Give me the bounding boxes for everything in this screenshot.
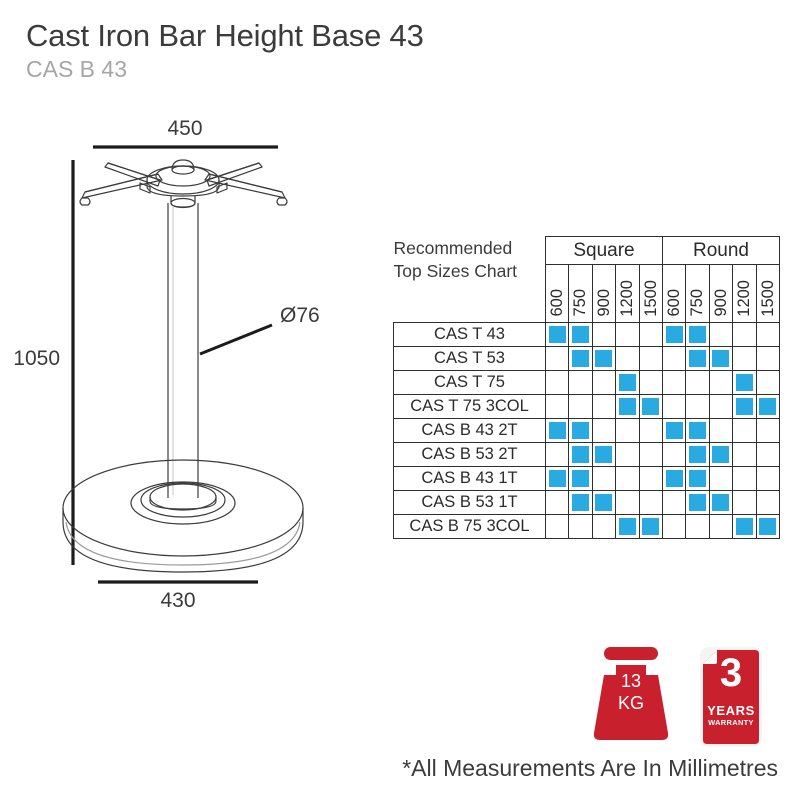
compatibility-mark — [572, 470, 589, 487]
compatibility-mark — [619, 518, 636, 535]
weight-badge: 13 KG — [588, 645, 674, 745]
spider-bracket — [80, 160, 287, 208]
size-label: 1500 — [643, 277, 660, 317]
cell-square-600 — [546, 347, 569, 371]
cell-square-1200 — [616, 395, 639, 419]
badges: 13 KG 3 YEARS WARRANTY — [588, 645, 778, 750]
cell-round-1500 — [756, 443, 779, 467]
cell-round-900 — [709, 443, 732, 467]
top-width-label: 450 — [167, 117, 202, 140]
cell-square-1200 — [616, 323, 639, 347]
cell-square-1500 — [639, 371, 662, 395]
page-subtitle: CAS B 43 — [26, 57, 424, 81]
table-row: CAS T 53 — [394, 347, 780, 371]
table-row: CAS B 75 3COL — [394, 515, 780, 539]
cell-round-1200 — [733, 371, 756, 395]
compatibility-mark — [736, 374, 753, 391]
compatibility-mark — [549, 422, 566, 439]
cell-round-900 — [709, 323, 732, 347]
compatibility-mark — [549, 470, 566, 487]
cell-round-900 — [709, 467, 732, 491]
compatibility-mark — [689, 446, 706, 463]
table-row: CAS B 53 1T — [394, 491, 780, 515]
cell-square-750 — [569, 467, 592, 491]
cell-round-1500 — [756, 371, 779, 395]
row-label: CAS T 75 — [394, 371, 546, 395]
cell-square-900 — [592, 371, 615, 395]
cell-square-1500 — [639, 419, 662, 443]
cell-square-1500 — [639, 467, 662, 491]
cell-round-600 — [662, 443, 685, 467]
cell-square-600 — [546, 395, 569, 419]
cell-round-1500 — [756, 515, 779, 539]
size-header-square-600: 600 — [546, 265, 569, 323]
cell-square-750 — [569, 515, 592, 539]
cell-round-600 — [662, 515, 685, 539]
cell-square-750 — [569, 347, 592, 371]
compatibility-mark — [572, 350, 589, 367]
row-label: CAS B 53 1T — [394, 491, 546, 515]
size-label: 600 — [549, 286, 566, 317]
cell-square-1500 — [639, 491, 662, 515]
cell-round-750 — [686, 467, 709, 491]
cell-square-1500 — [639, 515, 662, 539]
cell-round-750 — [686, 515, 709, 539]
cell-square-600 — [546, 371, 569, 395]
group-header-square: Square — [546, 237, 663, 265]
compatibility-mark — [595, 494, 612, 511]
compatibility-mark — [712, 494, 729, 511]
cell-round-900 — [709, 491, 732, 515]
group-header-row: Recommended Top Sizes Chart Square Round — [394, 237, 780, 265]
diameter-leader-line — [200, 325, 272, 354]
size-header-round-900: 900 — [709, 265, 732, 323]
cell-square-1200 — [616, 515, 639, 539]
cell-round-900 — [709, 515, 732, 539]
size-label: 900 — [596, 286, 613, 317]
cell-square-750 — [569, 323, 592, 347]
chart-title-cell: Recommended Top Sizes Chart — [394, 237, 546, 323]
cell-round-600 — [662, 371, 685, 395]
size-label: 750 — [689, 286, 706, 317]
cell-round-900 — [709, 371, 732, 395]
size-label: 1200 — [736, 277, 753, 317]
size-label: 1500 — [760, 277, 777, 317]
cell-round-1200 — [733, 323, 756, 347]
base-geometry — [63, 160, 303, 572]
cell-round-600 — [662, 323, 685, 347]
cell-round-750 — [686, 491, 709, 515]
size-header-square-1500: 1500 — [639, 265, 662, 323]
table-head: Recommended Top Sizes Chart Square Round… — [394, 237, 780, 323]
cell-round-750 — [686, 347, 709, 371]
cell-square-600 — [546, 419, 569, 443]
compatibility-mark — [736, 518, 753, 535]
cell-square-1500 — [639, 395, 662, 419]
column-diameter-label: Ø76 — [280, 304, 320, 327]
measurements-note: *All Measurements Are In Millimetres — [402, 755, 778, 782]
cell-square-900 — [592, 395, 615, 419]
cell-square-900 — [592, 347, 615, 371]
base-plate — [63, 460, 303, 572]
compatibility-mark — [759, 518, 776, 535]
compatibility-mark — [689, 350, 706, 367]
size-label: 600 — [666, 286, 683, 317]
cell-round-600 — [662, 467, 685, 491]
compatibility-mark — [595, 446, 612, 463]
compatibility-mark — [689, 422, 706, 439]
row-label: CAS T 53 — [394, 347, 546, 371]
cell-round-1200 — [733, 443, 756, 467]
table-row: CAS B 53 2T — [394, 443, 780, 467]
compatibility-mark — [549, 326, 566, 343]
compatibility-mark — [666, 326, 683, 343]
cell-round-750 — [686, 371, 709, 395]
size-header-round-600: 600 — [662, 265, 685, 323]
cell-square-1500 — [639, 323, 662, 347]
recommended-top-sizes-chart: Recommended Top Sizes Chart Square Round… — [393, 236, 779, 539]
cell-round-900 — [709, 395, 732, 419]
row-label: CAS T 75 3COL — [394, 395, 546, 419]
table-row: CAS B 43 2T — [394, 419, 780, 443]
size-header-round-750: 750 — [686, 265, 709, 323]
cell-square-1500 — [639, 347, 662, 371]
product-spec-sheet: Cast Iron Bar Height Base 43 CAS B 43 45… — [0, 0, 800, 800]
header: Cast Iron Bar Height Base 43 CAS B 43 — [26, 20, 424, 81]
chart-title-line1: Recommended — [394, 237, 538, 260]
cell-square-750 — [569, 491, 592, 515]
base-width-label: 430 — [160, 589, 195, 612]
compatibility-mark — [712, 446, 729, 463]
compatibility-mark — [689, 326, 706, 343]
cell-square-600 — [546, 323, 569, 347]
cell-square-600 — [546, 443, 569, 467]
compatibility-mark — [572, 422, 589, 439]
warranty-years-label: YEARS — [700, 703, 762, 718]
cell-round-750 — [686, 395, 709, 419]
row-label: CAS B 53 2T — [394, 443, 546, 467]
cell-round-750 — [686, 419, 709, 443]
cell-square-1200 — [616, 443, 639, 467]
table-row: CAS T 75 3COL — [394, 395, 780, 419]
cell-square-900 — [592, 443, 615, 467]
compatibility-mark — [572, 326, 589, 343]
cell-round-1500 — [756, 467, 779, 491]
table-base-drawing-svg: 450 1050 430 Ø76 — [0, 110, 380, 620]
cell-square-1200 — [616, 419, 639, 443]
row-label: CAS B 43 2T — [394, 419, 546, 443]
cell-round-600 — [662, 347, 685, 371]
cell-square-750 — [569, 395, 592, 419]
warranty-badge: 3 YEARS WARRANTY — [700, 647, 762, 747]
cell-round-1200 — [733, 491, 756, 515]
compatibility-mark — [689, 470, 706, 487]
warranty-word-label: WARRANTY — [700, 718, 762, 727]
cell-square-1200 — [616, 371, 639, 395]
height-label: 1050 — [13, 347, 60, 370]
size-header-round-1200: 1200 — [733, 265, 756, 323]
cell-square-750 — [569, 443, 592, 467]
size-label: 900 — [713, 286, 730, 317]
cell-round-900 — [709, 419, 732, 443]
table-row: CAS T 75 — [394, 371, 780, 395]
compatibility-mark — [666, 422, 683, 439]
cell-square-1200 — [616, 491, 639, 515]
compatibility-mark — [666, 470, 683, 487]
size-label: 750 — [572, 286, 589, 317]
weight-value: 13 — [588, 671, 674, 692]
size-header-square-900: 900 — [592, 265, 615, 323]
compatibility-mark — [642, 398, 659, 415]
size-label: 1200 — [619, 277, 636, 317]
page-title: Cast Iron Bar Height Base 43 — [26, 20, 424, 53]
cell-square-600 — [546, 515, 569, 539]
cell-square-600 — [546, 467, 569, 491]
size-header-square-750: 750 — [569, 265, 592, 323]
compatibility-mark — [619, 398, 636, 415]
cell-square-900 — [592, 515, 615, 539]
cell-round-1500 — [756, 395, 779, 419]
cell-round-1500 — [756, 323, 779, 347]
compatibility-mark — [642, 518, 659, 535]
cell-square-900 — [592, 323, 615, 347]
table-body: CAS T 43CAS T 53CAS T 75CAS T 75 3COLCAS… — [394, 323, 780, 539]
cell-round-900 — [709, 347, 732, 371]
cell-round-600 — [662, 395, 685, 419]
cell-round-1500 — [756, 419, 779, 443]
cell-round-750 — [686, 323, 709, 347]
weight-unit: KG — [588, 693, 674, 714]
table-row: CAS T 43 — [394, 323, 780, 347]
cell-round-1500 — [756, 491, 779, 515]
cell-square-1200 — [616, 347, 639, 371]
table-row: CAS B 43 1T — [394, 467, 780, 491]
compatibility-mark — [619, 374, 636, 391]
cell-square-900 — [592, 491, 615, 515]
compatibility-mark — [759, 398, 776, 415]
row-label: CAS B 43 1T — [394, 467, 546, 491]
spec-table: Recommended Top Sizes Chart Square Round… — [393, 236, 780, 539]
compatibility-mark — [689, 494, 706, 511]
cell-square-900 — [592, 419, 615, 443]
cell-round-1200 — [733, 347, 756, 371]
compatibility-mark — [572, 446, 589, 463]
compatibility-mark — [595, 350, 612, 367]
cell-round-1200 — [733, 515, 756, 539]
technical-drawing: 450 1050 430 Ø76 — [0, 110, 380, 620]
cell-round-1200 — [733, 419, 756, 443]
compatibility-mark — [736, 398, 753, 415]
cell-square-900 — [592, 467, 615, 491]
compatibility-mark — [712, 350, 729, 367]
cell-round-750 — [686, 443, 709, 467]
cell-square-1200 — [616, 467, 639, 491]
warranty-number: 3 — [700, 653, 762, 693]
cell-square-1500 — [639, 443, 662, 467]
cell-round-1200 — [733, 395, 756, 419]
size-header-round-1500: 1500 — [756, 265, 779, 323]
cell-round-1200 — [733, 467, 756, 491]
group-header-round: Round — [662, 237, 779, 265]
cell-square-750 — [569, 371, 592, 395]
cell-round-1500 — [756, 347, 779, 371]
size-header-square-1200: 1200 — [616, 265, 639, 323]
chart-title-line2: Top Sizes Chart — [394, 260, 538, 283]
cell-round-600 — [662, 419, 685, 443]
cell-square-600 — [546, 491, 569, 515]
compatibility-mark — [572, 494, 589, 511]
cell-square-750 — [569, 419, 592, 443]
column — [168, 203, 198, 498]
row-label: CAS B 75 3COL — [394, 515, 546, 539]
cell-round-600 — [662, 491, 685, 515]
row-label: CAS T 43 — [394, 323, 546, 347]
